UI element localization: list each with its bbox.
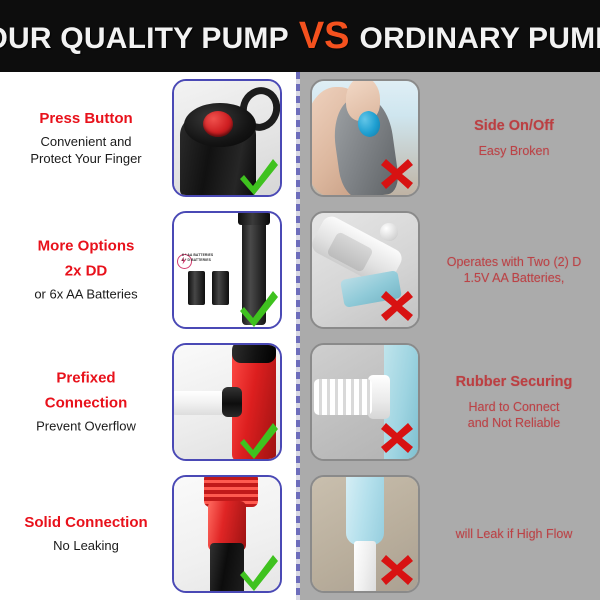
header-vs-label: VS bbox=[289, 15, 360, 58]
row1-right-headline: Side On/Off bbox=[432, 117, 596, 136]
comparison-row-connection: Prefixed Connection Prevent Overflow bbox=[0, 336, 600, 468]
row2-left-subline-1: or 6x AA Batteries bbox=[6, 287, 166, 304]
row1-left-text: Press Button Convenient and Protect Your… bbox=[6, 109, 166, 167]
row4-left-photo-card bbox=[172, 475, 282, 593]
red-x-icon bbox=[380, 157, 414, 191]
row2-right-text: Operates with Two (2) D 1.5V AA Batterie… bbox=[432, 254, 596, 286]
header-banner-inner: OUR QUALITY PUMP VS ORDINARY PUMP bbox=[0, 15, 600, 58]
red-x-icon bbox=[380, 421, 414, 455]
row2-left-headline-1: More Options bbox=[6, 237, 166, 256]
row2-left-headline-2: 2x DD bbox=[6, 262, 166, 281]
green-check-icon bbox=[238, 285, 278, 327]
green-check-icon bbox=[238, 549, 278, 591]
row3-right-subline-2: and Not Reliable bbox=[432, 415, 596, 431]
row3-right-photo-card bbox=[310, 343, 420, 461]
green-check-icon bbox=[238, 153, 278, 195]
row3-right-text: Rubber Securing Hard to Connect and Not … bbox=[432, 373, 596, 431]
comparison-row-press-button: Press Button Convenient and Protect Your… bbox=[0, 72, 600, 204]
row3-left-headline-1: Prefixed bbox=[6, 369, 166, 388]
row4-left-subline-1: No Leaking bbox=[6, 538, 166, 555]
row2-right-photo-card bbox=[310, 211, 420, 329]
comparison-row-leak: Solid Connection No Leaking will Lea bbox=[0, 468, 600, 600]
green-check-icon bbox=[238, 417, 278, 459]
row3-right-headline: Rubber Securing bbox=[432, 373, 596, 392]
row3-left-subline-1: Prevent Overflow bbox=[6, 419, 166, 436]
row2-right-subline-1: Operates with Two (2) D bbox=[432, 254, 596, 270]
row1-right-photo-card bbox=[310, 79, 420, 197]
row1-left-subline-1: Convenient and bbox=[6, 134, 166, 151]
red-x-icon bbox=[380, 553, 414, 587]
row2-left-photo-card: 6 * AA BATTERIES 2 * D BATTERIES bbox=[172, 211, 282, 329]
comparison-row-battery-options: More Options 2x DD or 6x AA Batteries 6 … bbox=[0, 204, 600, 336]
row3-left-headline-2: Connection bbox=[6, 394, 166, 413]
row3-left-photo-card bbox=[172, 343, 282, 461]
comparison-infographic: OUR QUALITY PUMP VS ORDINARY PUMP Press … bbox=[0, 0, 600, 600]
row4-right-photo-card bbox=[310, 475, 420, 593]
battery-photo-label: 6 * AA BATTERIES 2 * D BATTERIES bbox=[182, 253, 258, 263]
red-x-icon bbox=[380, 289, 414, 323]
row4-left-text: Solid Connection No Leaking bbox=[6, 513, 166, 555]
row2-right-subline-2: 1.5V AA Batteries, bbox=[432, 270, 596, 286]
header-right-title: ORDINARY PUMP bbox=[360, 22, 600, 56]
row3-left-text: Prefixed Connection Prevent Overflow bbox=[6, 369, 166, 436]
row1-left-photo-card bbox=[172, 79, 282, 197]
row1-right-subline-1: Easy Broken bbox=[432, 143, 596, 159]
row4-left-headline: Solid Connection bbox=[6, 513, 166, 532]
row4-right-text: will Leak if High Flow bbox=[432, 526, 596, 542]
header-banner: OUR QUALITY PUMP VS ORDINARY PUMP bbox=[0, 0, 600, 72]
header-left-title: OUR QUALITY PUMP bbox=[0, 22, 289, 56]
row1-left-subline-2: Protect Your Finger bbox=[6, 151, 166, 168]
row1-right-text: Side On/Off Easy Broken bbox=[432, 117, 596, 159]
row1-left-headline: Press Button bbox=[6, 109, 166, 128]
row4-right-subline-1: will Leak if High Flow bbox=[432, 526, 596, 542]
row2-left-text: More Options 2x DD or 6x AA Batteries bbox=[6, 237, 166, 304]
row3-right-subline-1: Hard to Connect bbox=[432, 399, 596, 415]
